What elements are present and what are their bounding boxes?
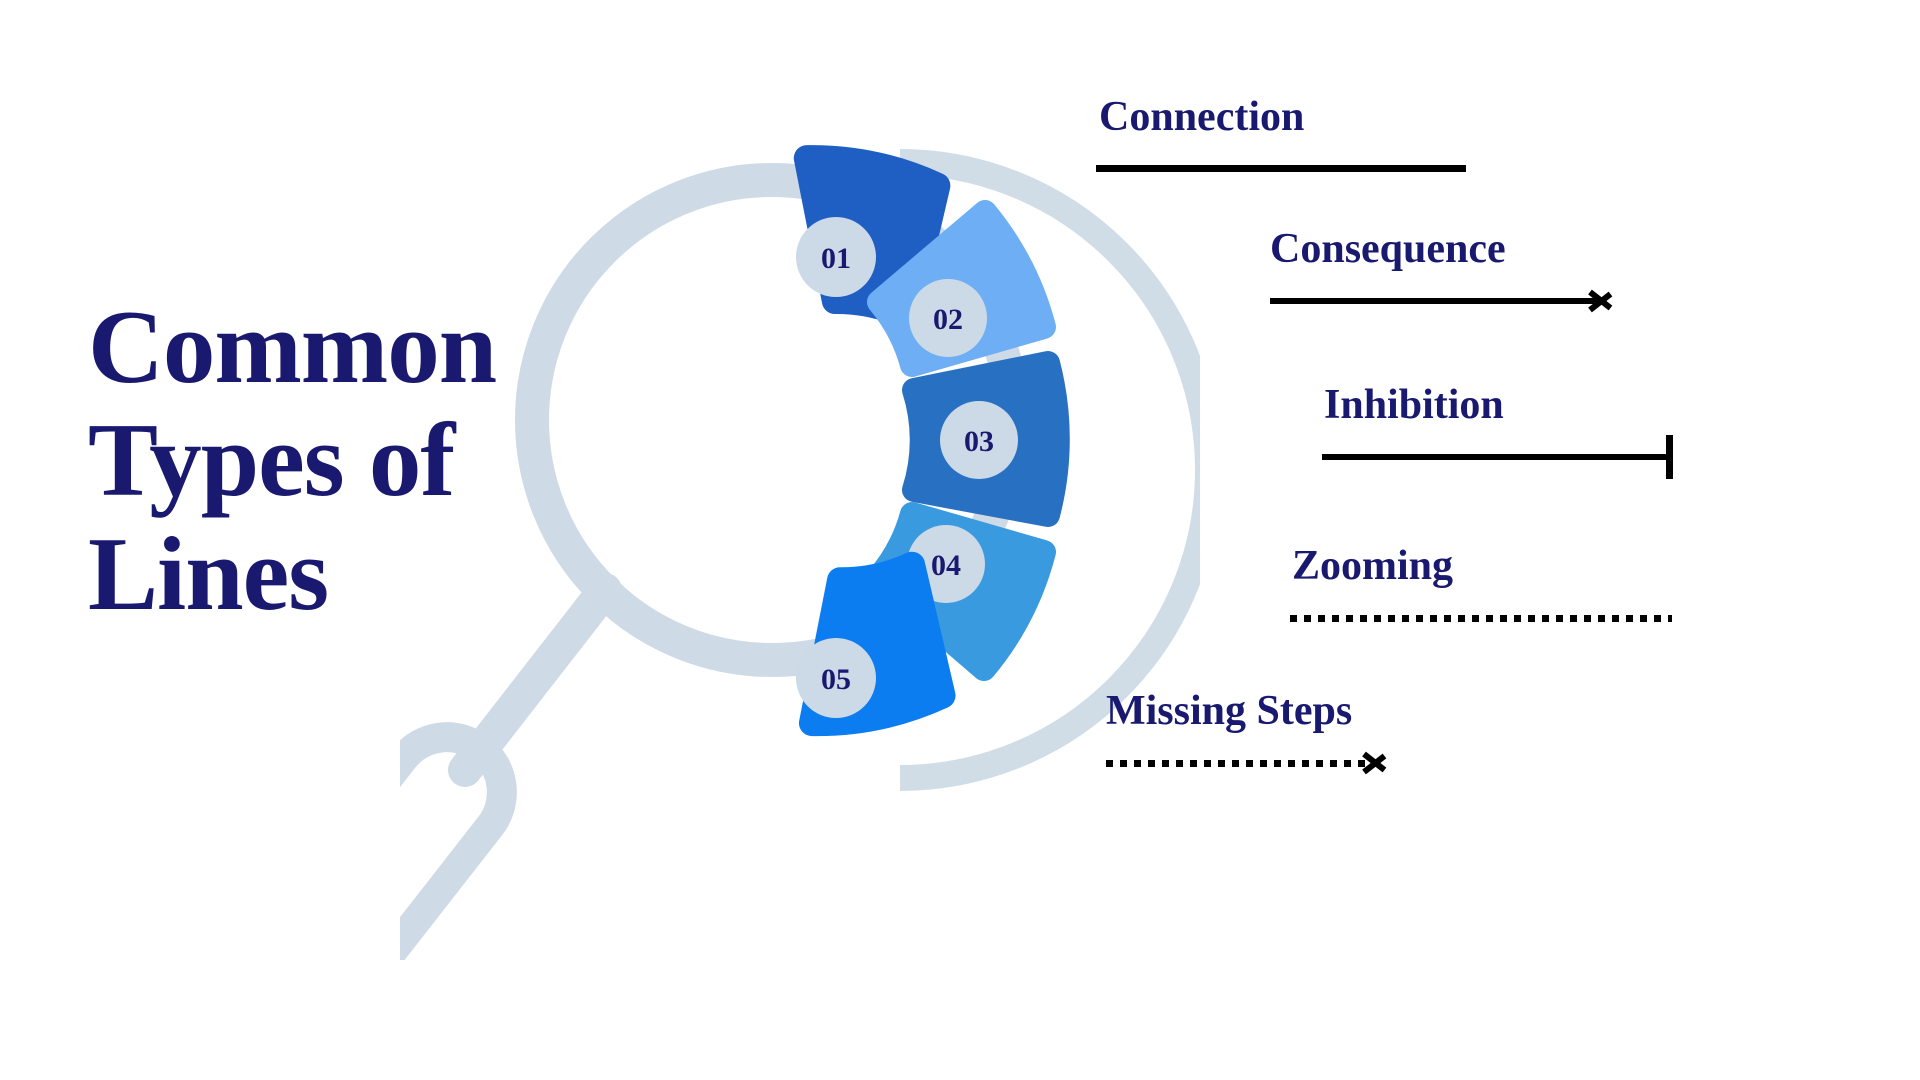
wheel-segment-05-number: 05: [821, 663, 851, 696]
tbar-end-icon: [1666, 435, 1673, 479]
legend-label-zooming: Zooming: [1292, 545, 1672, 587]
legend-art-connection: [1096, 149, 1466, 189]
wheel-segment-04-number: 04: [931, 549, 961, 582]
legend-label-inhibition: Inhibition: [1324, 384, 1674, 426]
dotted-arrow-icon: [1106, 760, 1372, 767]
solid-arrow-icon: [1270, 298, 1600, 304]
legend-item-inhibition[interactable]: Inhibition: [1322, 384, 1674, 477]
wheel-segment-02-number: 02: [933, 303, 963, 336]
legend-art-consequence: [1270, 281, 1626, 321]
legend-label-connection: Connection: [1099, 96, 1466, 138]
legend-item-zooming[interactable]: Zooming: [1290, 545, 1672, 638]
legend-label-consequence: Consequence: [1270, 228, 1626, 270]
solid-line-icon: [1096, 165, 1466, 172]
legend-item-connection[interactable]: Connection: [1096, 96, 1466, 189]
legend-item-consequence[interactable]: Consequence: [1270, 228, 1626, 321]
inhibition-bar-icon: [1322, 454, 1666, 460]
legend-art-inhibition: [1322, 437, 1674, 477]
infographic-slide: Common Types of Lines 01 02: [0, 0, 1920, 1080]
legend-label-missing-steps: Missing Steps: [1106, 690, 1406, 732]
legend-item-missing-steps[interactable]: Missing Steps: [1106, 690, 1406, 783]
dotted-line-icon: [1290, 615, 1672, 622]
wheel-segment-03[interactable]: 03: [914, 363, 1058, 515]
legend-art-zooming: [1290, 598, 1672, 638]
wheel-segment-03-number: 03: [964, 425, 994, 458]
legend-art-missing-steps: [1106, 743, 1406, 783]
wheel-segment-01-number: 01: [821, 242, 851, 275]
